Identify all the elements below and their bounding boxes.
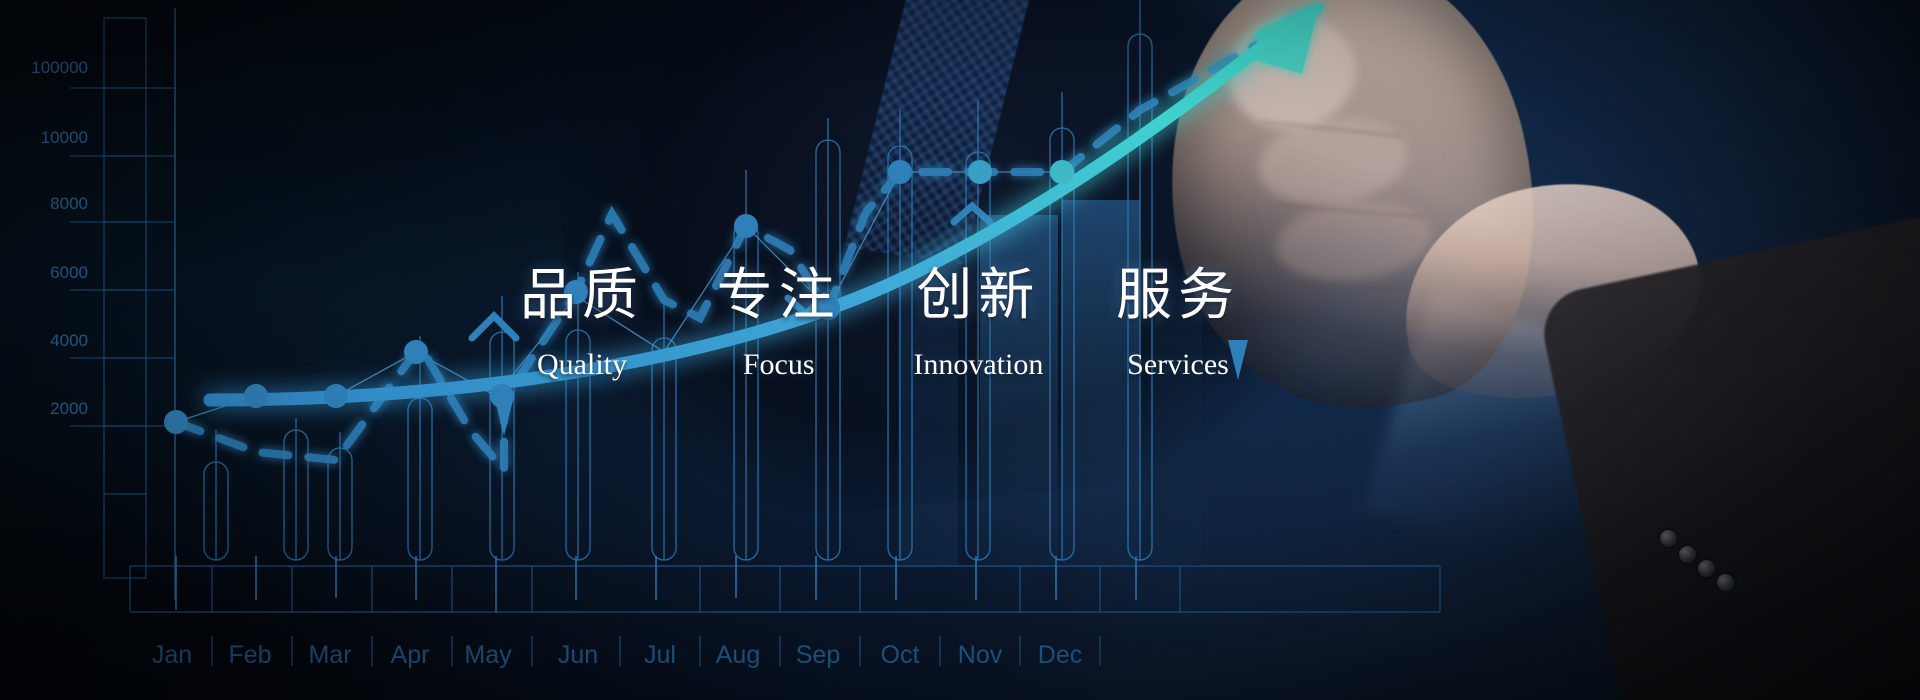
x-tick-label: Mar <box>308 641 351 669</box>
value-cn-label: 创新 <box>916 268 1040 324</box>
y-tick-label: 10000 <box>41 128 88 147</box>
value-cn-label: 服务 <box>1116 268 1240 324</box>
x-tick-label: Aug <box>716 641 760 669</box>
value-item-services: 服务 Services <box>1116 268 1240 380</box>
x-tick-label: Jan <box>152 641 192 669</box>
x-tick-label: Sep <box>796 641 840 669</box>
y-tick-label: 8000 <box>50 194 88 213</box>
y-axis-labels: 100000 10000 8000 6000 4000 2000 <box>31 58 88 418</box>
value-en-label: Services <box>1127 350 1229 380</box>
value-item-focus: 专注 Focus <box>717 268 841 380</box>
x-tick-label: Jun <box>558 641 598 669</box>
y-axis-scale-box <box>104 18 146 578</box>
value-cn-label: 专注 <box>717 268 841 324</box>
y-tick-label: 100000 <box>31 58 88 77</box>
y-tick-label: 2000 <box>50 399 88 418</box>
x-axis-grid <box>130 566 1440 612</box>
value-en-label: Focus <box>743 350 815 380</box>
x-tick-label: Oct <box>881 641 920 669</box>
x-tick-label: Apr <box>391 641 430 669</box>
hero-banner: 100000 10000 8000 6000 4000 2000 <box>0 0 1920 700</box>
y-tick-label: 4000 <box>50 331 88 350</box>
value-row: 品质 Quality 专注 Focus 创新 Innovation 服务 Ser… <box>520 268 1240 380</box>
x-tick-label: May <box>464 641 512 669</box>
y-tick-label: 6000 <box>50 263 88 282</box>
x-tick-label: Dec <box>1038 641 1082 669</box>
x-tick-label: Nov <box>958 641 1003 669</box>
x-tick-label: Jul <box>644 641 676 669</box>
value-item-quality: 品质 Quality <box>520 268 644 380</box>
value-proposition-list: 品质 Quality 专注 Focus 创新 Innovation 服务 Ser… <box>520 268 1240 380</box>
value-en-label: Innovation <box>913 350 1043 380</box>
value-item-innovation: 创新 Innovation <box>913 268 1043 380</box>
value-en-label: Quality <box>537 350 627 380</box>
x-tick-label: Feb <box>228 641 271 669</box>
value-cn-label: 品质 <box>520 268 644 324</box>
